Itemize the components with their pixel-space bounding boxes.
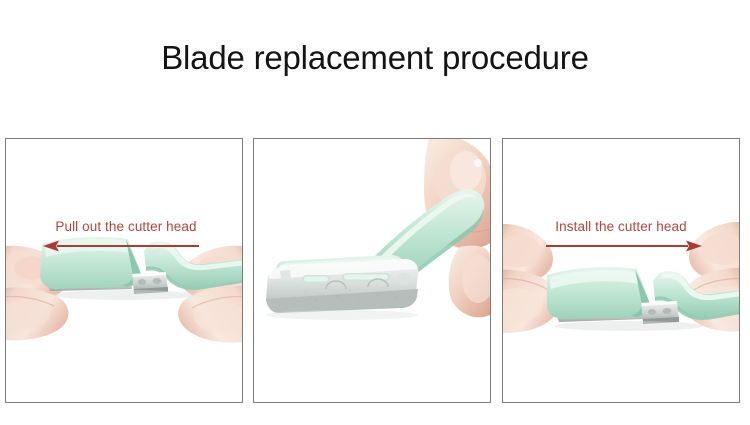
arrow-left-container <box>6 239 242 255</box>
arrow-right-container <box>503 239 739 255</box>
page-title: Blade replacement procedure <box>0 38 750 78</box>
photo-peeler-joining <box>503 139 739 402</box>
photo-peeler-separating <box>6 139 242 402</box>
panel-pull-out-step: Pull out the cutter head <box>5 138 243 403</box>
blade-clip <box>641 301 679 324</box>
photo-peeler-head-blade <box>254 139 490 402</box>
panel-blade-exposed-step <box>253 138 491 403</box>
panel-install-step: Install the cutter head <box>502 138 740 403</box>
peeler-head-left <box>547 267 649 319</box>
arrow-left-icon <box>39 239 209 253</box>
arrow-right-icon <box>536 239 706 253</box>
panel-3-caption: Install the cutter head <box>503 219 739 234</box>
blade <box>266 259 418 313</box>
panel-1-caption: Pull out the cutter head <box>8 219 243 234</box>
